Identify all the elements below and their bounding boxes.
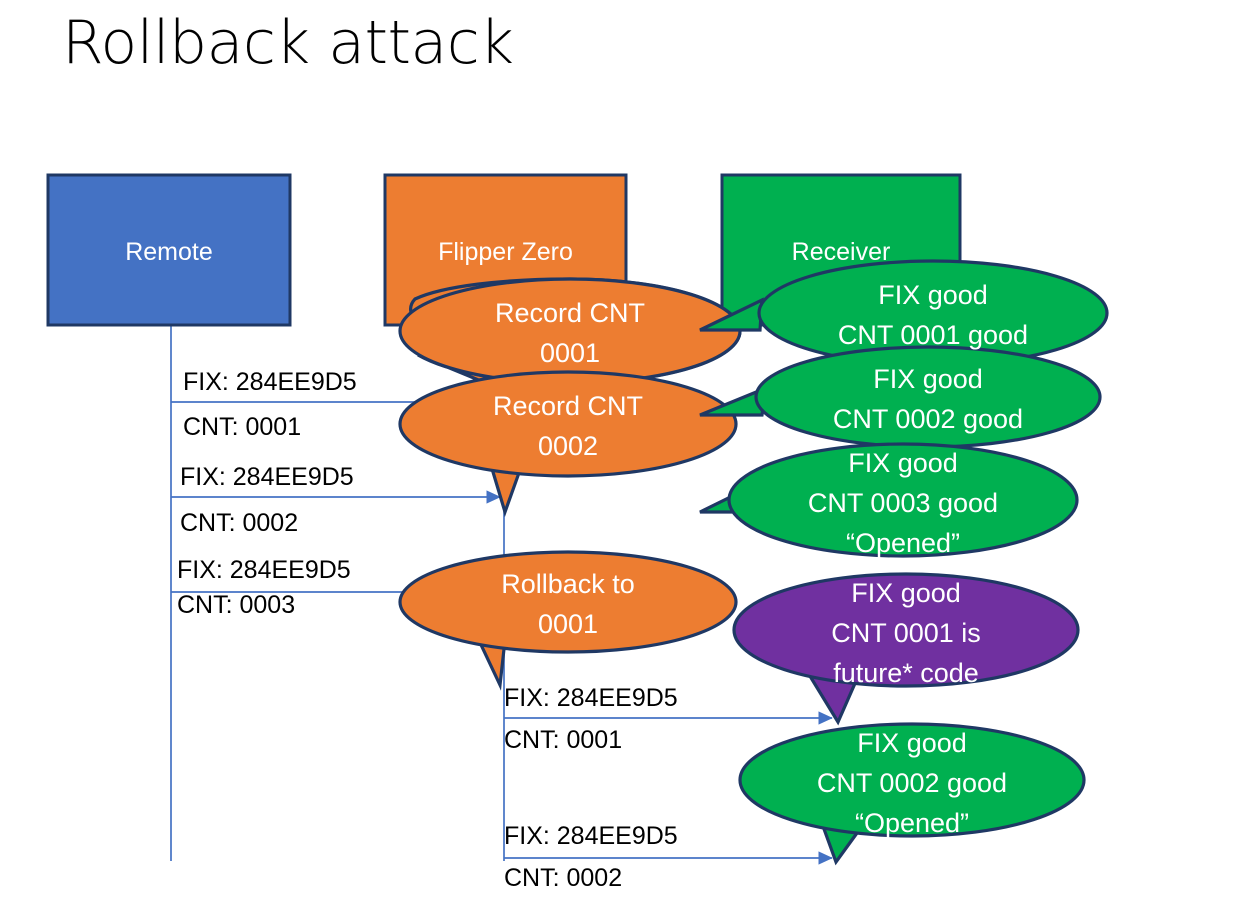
message-cnt-1: CNT: 0001 (183, 413, 301, 442)
message-cnt-4: CNT: 0001 (504, 726, 622, 755)
message-cnt-5: CNT: 0002 (504, 864, 622, 893)
callout-fix-cnt-0002-good[interactable] (700, 347, 1100, 447)
message-fix-1: FIX: 284EE9D5 (183, 368, 357, 397)
message-fix-2: FIX: 284EE9D5 (180, 463, 354, 492)
message-fix-4: FIX: 284EE9D5 (504, 684, 678, 713)
callout-record-0002[interactable] (400, 372, 736, 512)
slide-canvas: Rollback attack (0, 0, 1233, 898)
actor-label-remote: Remote (48, 238, 290, 267)
actor-label-receiver: Receiver (722, 238, 960, 267)
message-cnt-3: CNT: 0003 (177, 591, 295, 620)
diagram-svg (0, 0, 1233, 898)
callout-fix-cnt-0002-opened[interactable] (740, 724, 1084, 862)
callout-fix-cnt-0001-future[interactable] (734, 574, 1078, 722)
callout-fix-cnt-0003-opened[interactable] (700, 444, 1077, 556)
callout-rollback-0001[interactable] (400, 552, 736, 685)
message-fix-5: FIX: 284EE9D5 (504, 822, 678, 851)
message-cnt-2: CNT: 0002 (180, 509, 298, 538)
actor-label-flipper: Flipper Zero (385, 238, 626, 267)
message-fix-3: FIX: 284EE9D5 (177, 556, 351, 585)
